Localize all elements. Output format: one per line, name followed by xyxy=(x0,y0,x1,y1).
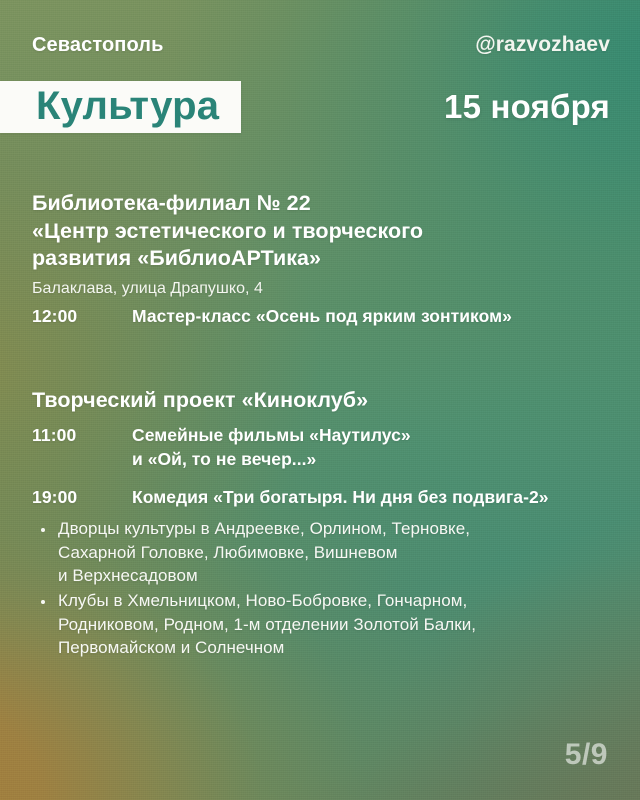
poster-content: Севастополь @razvozhaev Культура 15 нояб… xyxy=(0,0,640,800)
category-label: Культура xyxy=(36,85,219,127)
venue-line: Клубы в Хмельницком, Ново-Бобровке, Гонч… xyxy=(58,589,614,612)
project-title: Творческий проект «Киноклуб» xyxy=(32,388,614,413)
venue-line: Сахарной Головке, Любимовке, Вишневом xyxy=(58,541,614,564)
venue-address: Балаклава, улица Драпушко, 4 xyxy=(32,279,614,300)
venue-title-line: развития «БиблиоАРТика» xyxy=(32,246,321,270)
venue-line: и Верхнесадовом xyxy=(58,564,614,587)
venue-line: Первомайском и Солнечном xyxy=(58,636,614,659)
event-title: Семейные фильмы «Наутилус» и «Ой, то не … xyxy=(132,424,614,471)
list-item: Дворцы культуры в Андреевке, Орлином, Те… xyxy=(32,517,614,587)
events-body: Библиотека-филиал № 22 «Центр эстетическ… xyxy=(32,190,614,660)
event-title: Комедия «Три богатыря. Ни дня без подвиг… xyxy=(132,486,614,509)
event-title: Мастер-класс «Осень под ярким зонтиком» xyxy=(132,305,614,328)
bullet-icon xyxy=(41,528,45,532)
date-label: 15 ноября xyxy=(444,88,610,126)
event-time: 19:00 xyxy=(32,486,132,509)
header-bar: Севастополь @razvozhaev xyxy=(32,33,610,57)
schedule-list: 12:00 Мастер-класс «Осень под ярким зонт… xyxy=(32,305,614,328)
event-title-line: Семейные фильмы «Наутилус» xyxy=(132,424,614,447)
schedule-row: 19:00 Комедия «Три богатыря. Ни дня без … xyxy=(32,486,614,509)
venue-title: Библиотека-филиал № 22 «Центр эстетическ… xyxy=(32,190,614,273)
venue-line: Родниковом, Родном, 1-м отделении Золото… xyxy=(58,613,614,636)
schedule-list: 11:00 Семейные фильмы «Наутилус» и «Ой, … xyxy=(32,424,614,509)
title-row: Культура 15 ноября xyxy=(0,83,610,131)
poster: Севастополь @razvozhaev Культура 15 нояб… xyxy=(0,0,640,800)
bullet-icon xyxy=(41,600,45,604)
schedule-row: 12:00 Мастер-класс «Осень под ярким зонт… xyxy=(32,305,614,328)
venue-list: Дворцы культуры в Андреевке, Орлином, Те… xyxy=(32,517,614,660)
event-title-line: и «Ой, то не вечер...» xyxy=(132,448,614,471)
city-label: Севастополь xyxy=(32,34,164,57)
category-badge: Культура xyxy=(0,81,241,133)
account-handle: @razvozhaev xyxy=(475,33,610,57)
venue-title-line: Библиотека-филиал № 22 xyxy=(32,191,311,215)
event-block-kinoklub: Творческий проект «Киноклуб» 11:00 Семей… xyxy=(32,388,614,660)
event-time: 12:00 xyxy=(32,305,132,328)
event-block-library: Библиотека-филиал № 22 «Центр эстетическ… xyxy=(32,190,614,328)
event-title-line: Комедия «Три богатыря. Ни дня без подвиг… xyxy=(132,486,614,509)
venue-line: Дворцы культуры в Андреевке, Орлином, Те… xyxy=(58,517,614,540)
list-item: Клубы в Хмельницком, Ново-Бобровке, Гонч… xyxy=(32,589,614,659)
event-time: 11:00 xyxy=(32,424,132,447)
event-title-line: Мастер-класс «Осень под ярким зонтиком» xyxy=(132,305,614,328)
venue-title-line: «Центр эстетического и творческого xyxy=(32,219,423,243)
page-indicator: 5/9 xyxy=(565,738,608,772)
schedule-row: 11:00 Семейные фильмы «Наутилус» и «Ой, … xyxy=(32,424,614,471)
